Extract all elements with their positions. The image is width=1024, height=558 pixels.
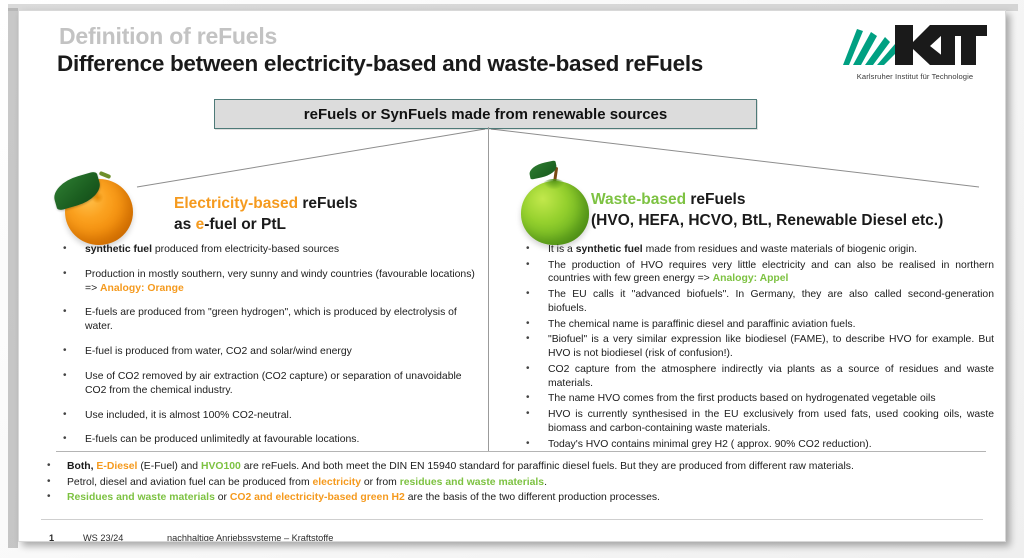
- list-item-text: E-fuels are produced from "green hydroge…: [85, 307, 457, 332]
- list-item-text: CO2 capture from the atmosphere indirect…: [548, 364, 994, 389]
- kit-logo-subtitle: Karlsruher Institut für Technologie: [843, 72, 987, 81]
- list-item-accent: Analogy: Appel: [713, 273, 789, 284]
- list-item: The name HVO comes from the first produc…: [522, 392, 994, 406]
- summary-1-bold: Both,: [67, 461, 94, 472]
- summary-2-mid-2: .: [544, 477, 547, 488]
- left-heading-line2: as e-fuel or PtL: [174, 214, 358, 235]
- list-item-text: E-fuel is produced from water, CO2 and s…: [85, 346, 352, 357]
- summary-item: Petrol, diesel and aviation fuel can be …: [41, 477, 981, 490]
- list-item-text: Use included, it is almost 100% CO2-neut…: [85, 410, 292, 421]
- list-item-text: produced from electricity-based sources: [152, 244, 339, 255]
- summary-2-mid-1: or from: [361, 477, 400, 488]
- list-item-text: The EU calls it "advanced biofuels". In …: [548, 289, 994, 314]
- page-background: Definition of reFuels Difference between…: [0, 0, 1024, 558]
- footer-page-number: 1: [49, 533, 54, 542]
- list-item: Use included, it is almost 100% CO2-neut…: [59, 409, 479, 423]
- slide: Definition of reFuels Difference between…: [18, 10, 1006, 542]
- list-item: The EU calls it "advanced biofuels". In …: [522, 288, 994, 315]
- left-heading-rest: reFuels: [298, 195, 357, 212]
- list-item-bold: synthetic fuel: [576, 244, 643, 255]
- orange-icon: [47, 159, 139, 249]
- apple-icon: [513, 163, 597, 249]
- footer-term: WS 23/24: [83, 533, 123, 542]
- summary-list: Both, E-Diesel (E-Fuel) and HVO100 are r…: [41, 461, 981, 508]
- apple-body-icon: [521, 181, 589, 245]
- list-item: The production of HVO requires very litt…: [522, 259, 994, 286]
- apple-notch-icon: [543, 179, 565, 189]
- list-item-text: HVO is currently synthesised in the EU e…: [548, 409, 994, 434]
- summary-3-accent-2: CO2 and electricity-based green H2: [230, 492, 405, 503]
- list-item-accent: Analogy: Orange: [100, 283, 184, 294]
- summary-1-mid-1: (E-Fuel) and: [137, 461, 201, 472]
- summary-1-accent-2: HVO100: [201, 461, 241, 472]
- left-heading-accent: Electricity-based: [174, 195, 298, 212]
- left-heading-line2-accent: e: [196, 216, 205, 233]
- slide-kicker: Definition of reFuels: [59, 23, 277, 50]
- summary-3-accent-1: Residues and waste materials: [67, 492, 215, 503]
- right-heading-line2: (HVO, HEFA, HCVO, BtL, Renewable Diesel …: [591, 210, 943, 231]
- list-item-text: "Biofuel" is a very similar expression l…: [548, 334, 994, 359]
- left-bullet-list: synthetic fuel produced from electricity…: [59, 243, 479, 458]
- left-heading-line1: Electricity-based reFuels: [174, 193, 358, 214]
- list-item: "Biofuel" is a very similar expression l…: [522, 333, 994, 360]
- list-item-text: made from residues and waste materials o…: [643, 244, 917, 255]
- list-item: It is a synthetic fuel made from residue…: [522, 243, 994, 257]
- list-item-bold: synthetic fuel: [85, 244, 152, 255]
- footer-course: nachhaltige Anriebssysteme – Kraftstoffe: [167, 533, 333, 542]
- list-item: E-fuel is produced from water, CO2 and s…: [59, 345, 479, 359]
- right-heading-line1: Waste-based reFuels: [591, 189, 943, 210]
- left-column-heading: Electricity-based reFuels as e-fuel or P…: [174, 193, 358, 235]
- center-statement-box: reFuels or SynFuels made from renewable …: [214, 99, 757, 129]
- list-item: synthetic fuel produced from electricity…: [59, 243, 479, 257]
- list-item-pre: It is a: [548, 244, 576, 255]
- summary-item: Both, E-Diesel (E-Fuel) and HVO100 are r…: [41, 461, 981, 474]
- summary-1-mid-2: are reFuels. And both meet the DIN EN 15…: [241, 461, 854, 472]
- left-heading-line2-rest: -fuel or PtL: [204, 216, 286, 233]
- summary-2-accent-2: residues and waste materials: [400, 477, 544, 488]
- kit-logo: Karlsruher Institut für Technologie: [837, 19, 987, 81]
- list-item-text: Today's HVO contains minimal grey H2 ( a…: [548, 439, 872, 450]
- list-item-text: The name HVO comes from the first produc…: [548, 393, 936, 404]
- list-item: The chemical name is paraffinic diesel a…: [522, 318, 994, 332]
- summary-3-mid-1: or: [215, 492, 230, 503]
- list-item-text: E-fuels can be produced unlimitedly at f…: [85, 434, 359, 445]
- center-statement-label: reFuels or SynFuels made from renewable …: [304, 106, 667, 123]
- list-item: Production in mostly southern, very sunn…: [59, 268, 479, 296]
- list-item: HVO is currently synthesised in the EU e…: [522, 408, 994, 435]
- summary-2-accent-1: electricity: [312, 477, 361, 488]
- summary-1-accent-1: E-Diesel: [94, 461, 138, 472]
- right-heading-accent: Waste-based: [591, 191, 686, 208]
- list-item: CO2 capture from the atmosphere indirect…: [522, 363, 994, 390]
- summary-3-mid-2: are the basis of the two different produ…: [405, 492, 660, 503]
- orange-stem-icon: [99, 171, 112, 179]
- right-heading-rest: reFuels: [686, 191, 745, 208]
- left-heading-line2-pre: as: [174, 216, 196, 233]
- list-item: E-fuels can be produced unlimitedly at f…: [59, 433, 479, 447]
- summary-2-mid-0: Petrol, diesel and aviation fuel can be …: [67, 477, 312, 488]
- list-item: Use of CO2 removed by air extraction (CO…: [59, 370, 479, 398]
- page-title: Difference between electricity-based and…: [57, 51, 703, 77]
- footer-divider: [41, 519, 983, 520]
- column-divider: [488, 127, 489, 452]
- list-item-text: The chemical name is paraffinic diesel a…: [548, 319, 855, 330]
- list-item: E-fuels are produced from "green hydroge…: [59, 306, 479, 334]
- right-column-heading: Waste-based reFuels (HVO, HEFA, HCVO, Bt…: [591, 189, 943, 231]
- slide-edge-left: [8, 8, 18, 548]
- summary-item: Residues and waste materials or CO2 and …: [41, 492, 981, 505]
- kit-logo-icon: [837, 19, 987, 71]
- list-item: Today's HVO contains minimal grey H2 ( a…: [522, 438, 994, 452]
- list-item-text: Use of CO2 removed by air extraction (CO…: [85, 371, 462, 396]
- right-bullet-list: It is a synthetic fuel made from residue…: [522, 243, 994, 453]
